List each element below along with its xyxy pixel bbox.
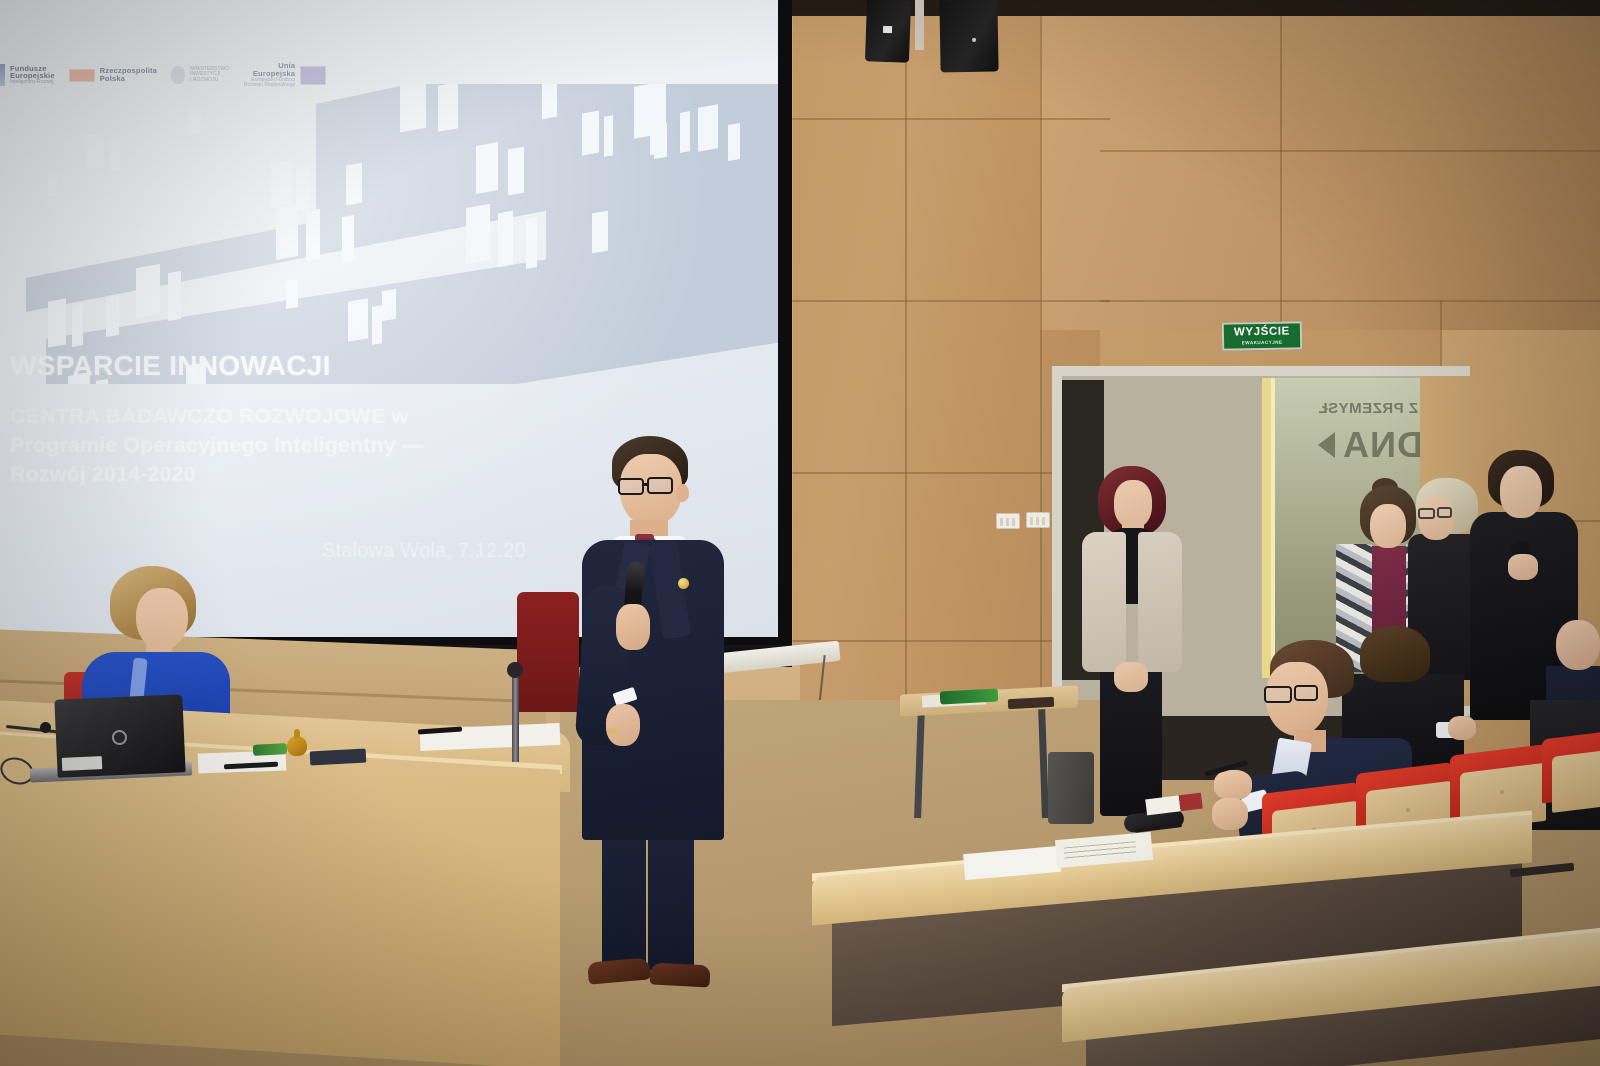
ceiling-speaker-right	[939, 0, 998, 73]
head	[1556, 620, 1600, 670]
microphone-stand-head	[507, 662, 523, 678]
auditorium-seat-back	[1552, 747, 1600, 813]
glass-text-main: DNA	[1342, 424, 1423, 466]
door-mullion-highlight	[1271, 378, 1275, 678]
slide-place-and-date: Stalowa Wola, 7.12.20	[322, 540, 526, 563]
polish-flag-icon	[69, 69, 95, 82]
slide-title: WSPARCIE INNOWACJI	[10, 350, 570, 382]
shoe-right	[649, 962, 710, 987]
exit-sign-main-text: WYJŚCIE	[1234, 326, 1290, 338]
wall-seam	[1280, 0, 1282, 330]
door-mullion	[1262, 378, 1271, 678]
hand-lower	[1212, 798, 1248, 830]
power-outlet-left[interactable]	[996, 513, 1020, 529]
glass-text-top: O Z PRZEMYSŁ	[1318, 400, 1435, 417]
hand	[1448, 716, 1476, 740]
auditorium-scene: Fundusze Europejskie Inteligentny Rozwój…	[0, 0, 1600, 1066]
wall-seam	[1040, 0, 1042, 800]
slide-building-graphic	[0, 84, 778, 384]
eu-flag-icon	[300, 66, 326, 85]
ceiling-speaker-left	[865, 0, 911, 63]
slide-subtitle: CENTRA BADAWCZO ROZWOJOWE w Programie Op…	[10, 402, 570, 488]
speaker-mount-bracket	[915, 0, 924, 50]
microphone-stand	[512, 672, 519, 762]
wall-seam	[1100, 150, 1600, 152]
emergency-exit-sign: WYJŚCIE EWAKUACYJNE	[1222, 321, 1302, 350]
wall-seam	[790, 300, 1110, 302]
speaker-led	[972, 38, 976, 42]
ring	[608, 728, 617, 734]
green-object	[253, 743, 288, 756]
laptop-sticker	[62, 756, 103, 771]
slide-subtitle-line-2: Programie Operacyjnego Inteligentny —	[10, 431, 570, 460]
ceiling-shadow-band	[790, 0, 1600, 16]
hand	[1508, 554, 1538, 580]
presenter	[568, 436, 738, 996]
leg-left	[602, 832, 646, 972]
fundusze-europejskie-icon	[0, 64, 5, 86]
lapel-pin	[678, 578, 689, 589]
eyeglass-lens-left	[618, 478, 644, 495]
eyeglass-lens-right	[647, 477, 673, 494]
logo-fundusze-europejskie: Fundusze Europejskie Inteligentny Rozwój	[0, 64, 55, 86]
face	[1370, 504, 1406, 548]
exit-sign-sub-text: EWAKUACYJNE	[1242, 340, 1283, 346]
slide-text-block: WSPARCIE INNOWACJI CENTRA BADAWCZO ROZWO…	[10, 350, 570, 488]
shoe-left	[587, 957, 651, 984]
beige-blazer-right	[1138, 532, 1182, 672]
power-outlet-right[interactable]	[1026, 512, 1050, 528]
eyeglass-lens-right	[1294, 685, 1318, 701]
eyeglass-lens-left	[1264, 686, 1292, 703]
dark-tablet[interactable]	[310, 749, 367, 766]
hand-left	[606, 704, 640, 746]
wall-seam	[790, 118, 1110, 120]
hand-upper	[1214, 770, 1252, 800]
waste-bin	[1048, 752, 1094, 824]
face	[1500, 466, 1542, 518]
ear	[676, 484, 689, 502]
podium-front-panel	[0, 734, 560, 1066]
polish-eagle-crest-icon	[171, 66, 185, 84]
logo-line-2: Polska	[100, 75, 157, 83]
brass-bell[interactable]	[287, 736, 307, 756]
seat-screw	[1406, 808, 1410, 812]
clasped-hands	[1114, 662, 1148, 692]
bell-handle	[294, 729, 300, 738]
speaker-badge	[883, 26, 892, 33]
leg-right	[648, 832, 694, 972]
eyeglass-lens-right	[1437, 507, 1452, 518]
wall-seam	[1100, 300, 1600, 302]
upper-right-wall-panel	[1040, 0, 1600, 330]
logo-rzeczpospolita-polska: Rzeczpospolita Polska	[69, 67, 157, 83]
wall-seam	[905, 0, 907, 800]
beige-blazer-left	[1082, 532, 1126, 672]
logo-ministerstwo: MINISTERSTWO INWESTYCJI I ROZWOJU	[171, 66, 229, 84]
eyeglass-lens-left	[1418, 508, 1435, 519]
eyeglass-bridge	[643, 483, 649, 486]
slide-subtitle-line-3: Rozwój 2014-2020	[10, 460, 570, 489]
hand-holding-microphone	[616, 604, 650, 650]
glass-arrow-icon	[1318, 432, 1335, 458]
gooseneck-microphone-head	[40, 722, 51, 733]
seat-screw	[1500, 790, 1504, 794]
slide-subtitle-line-1: CENTRA BADAWCZO ROZWOJOWE w	[10, 402, 570, 431]
logo-line-3: I ROZWOJU	[190, 78, 229, 83]
logo-line-1: Unia Europejska	[243, 62, 295, 78]
